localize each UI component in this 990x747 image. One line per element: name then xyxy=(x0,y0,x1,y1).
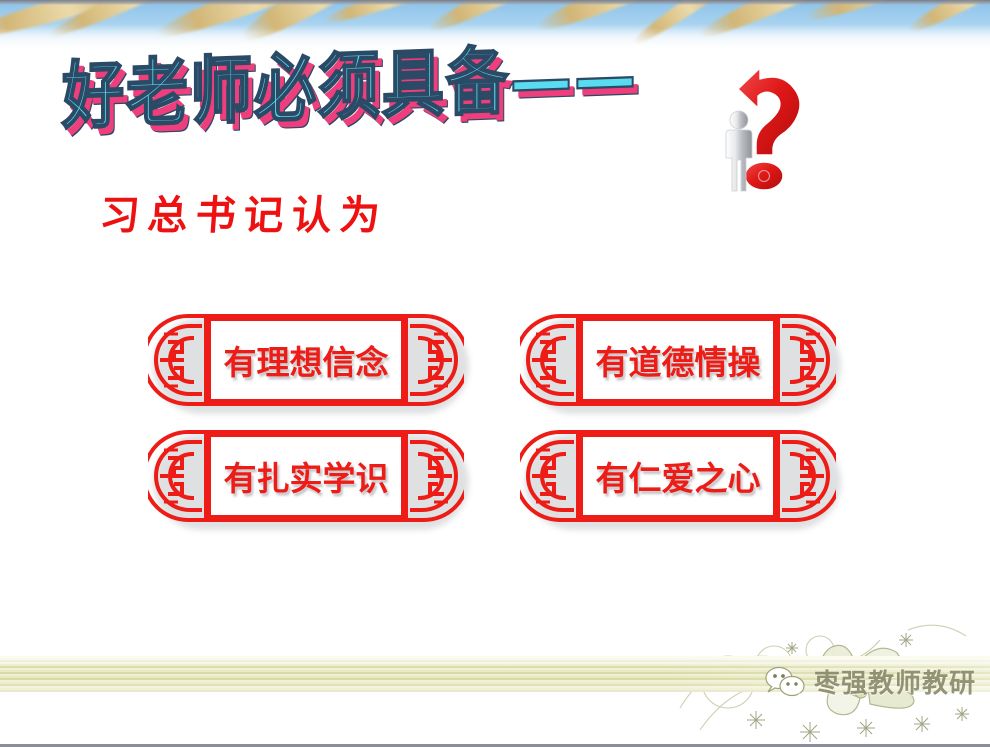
chinese-fretwork-medallion-icon xyxy=(398,312,464,408)
subtitle: 习总书记认为 xyxy=(98,183,390,241)
quality-label: 有道德情操 xyxy=(576,314,780,406)
quality-plaque[interactable]: 有道德情操 xyxy=(520,312,836,408)
watermark: 枣强教师教研 xyxy=(764,663,976,700)
slide-top-edge xyxy=(0,0,990,5)
quality-label: 有理想信念 xyxy=(204,314,408,406)
chinese-fretwork-medallion-icon xyxy=(398,428,464,524)
presentation-slide: 好老师必须具备—— 习总书记认为 xyxy=(0,0,990,747)
watermark-text: 枣强教师教研 xyxy=(814,663,976,700)
qualities-group: 有理想信念 xyxy=(148,312,848,542)
quality-plaque[interactable]: 有扎实学识 xyxy=(148,428,464,524)
chinese-fretwork-medallion-icon xyxy=(770,428,836,524)
page-title: 好老师必须具备—— xyxy=(62,40,638,133)
quality-label: 有扎实学识 xyxy=(204,430,408,522)
quality-label: 有仁爱之心 xyxy=(576,430,780,522)
wechat-logo-icon xyxy=(764,666,806,698)
question-illustration-svg xyxy=(708,56,818,196)
quality-plaque[interactable]: 有仁爱之心 xyxy=(520,428,836,524)
question-illustration xyxy=(708,56,818,196)
chinese-fretwork-medallion-icon xyxy=(770,312,836,408)
slide-footer: 枣强教师教研 xyxy=(0,612,990,744)
question-mark-icon xyxy=(738,68,800,190)
quality-plaque[interactable]: 有理想信念 xyxy=(148,312,464,408)
